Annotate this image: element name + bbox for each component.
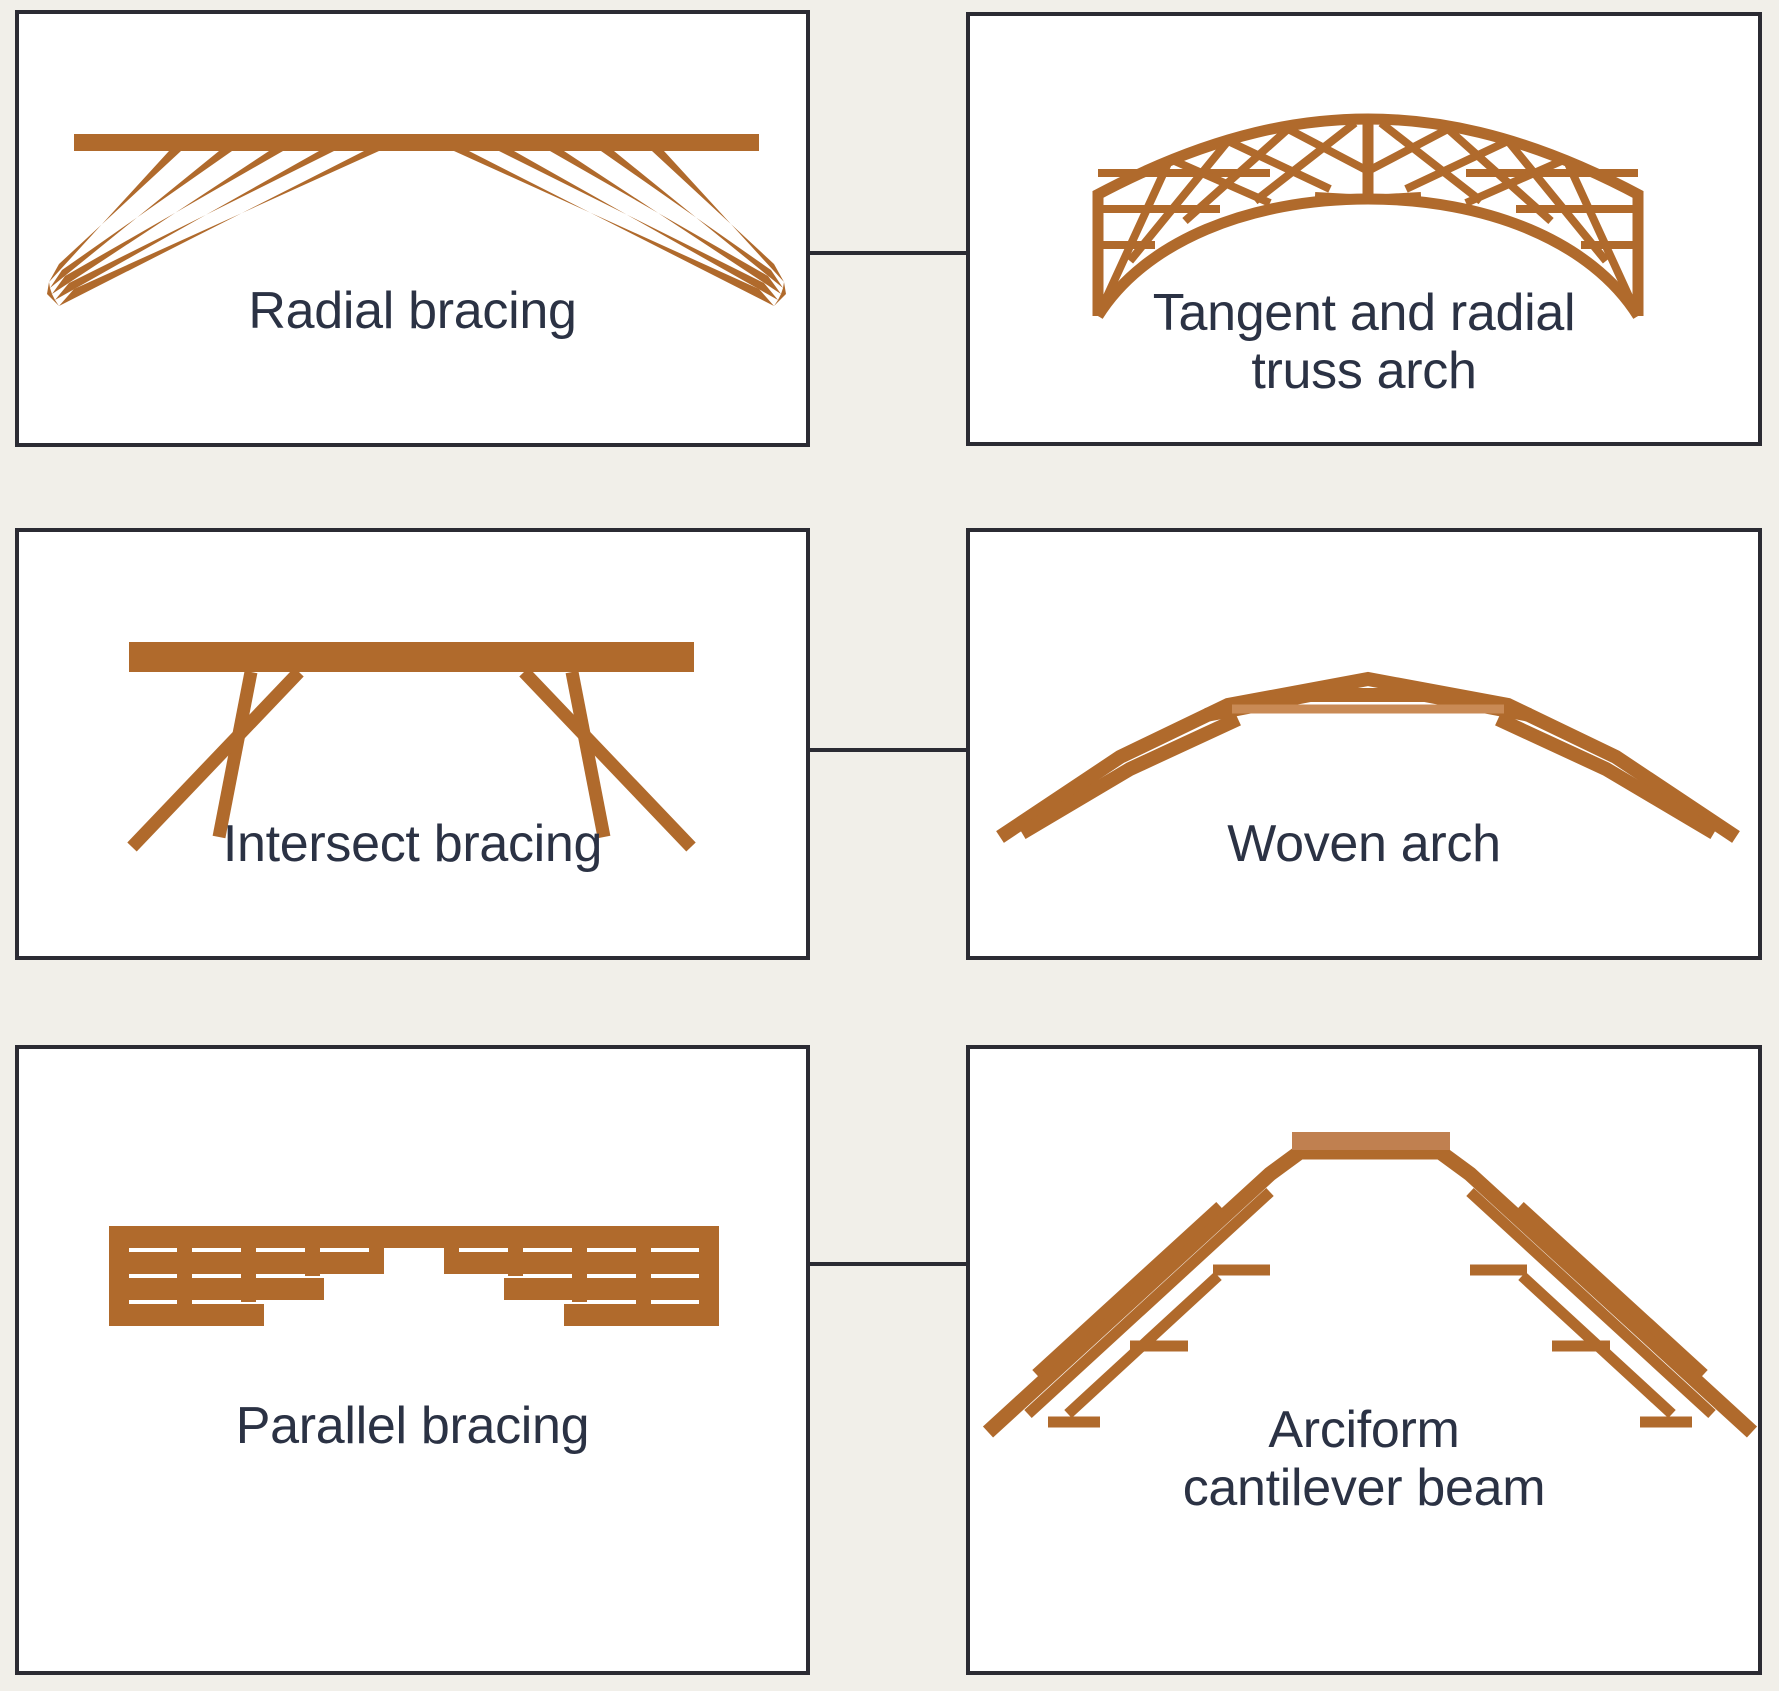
panel-caption-intersect-bracing: Intersect bracing (19, 815, 806, 873)
panel-caption-woven-arch: Woven arch (970, 815, 1758, 873)
panel-tangent-and-radial-truss-arch[interactable]: Tangent and radial truss arch (966, 12, 1762, 446)
panel-caption-radial-bracing: Radial bracing (19, 282, 806, 340)
connector-parallel-to-arciform (806, 1262, 970, 1266)
panel-arciform-cantilever-beam[interactable]: Arciform cantilever beam (966, 1045, 1762, 1675)
diagram-canvas: Radial bracing (0, 0, 1779, 1691)
panel-intersect-bracing[interactable]: Intersect bracing (15, 528, 810, 960)
connector-radial-to-tangent-arch (806, 251, 970, 255)
panel-caption-arciform-cantilever-beam: Arciform cantilever beam (970, 1401, 1758, 1517)
panel-caption-tangent-and-radial-truss-arch: Tangent and radial truss arch (970, 284, 1758, 400)
panel-parallel-bracing[interactable]: Parallel bracing (15, 1045, 810, 1675)
arciform-cantilever-beam-figure (970, 1114, 1762, 1444)
parallel-bracing-figure (19, 1224, 810, 1354)
panel-caption-parallel-bracing: Parallel bracing (19, 1397, 806, 1455)
connector-intersect-to-woven-arch (806, 748, 970, 752)
panel-radial-bracing[interactable]: Radial bracing (15, 10, 810, 447)
panel-woven-arch[interactable]: Woven arch (966, 528, 1762, 960)
